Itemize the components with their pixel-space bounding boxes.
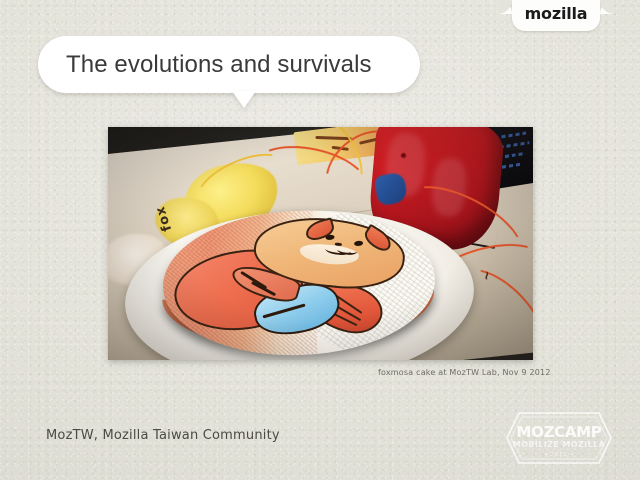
- mozcamp-badge-svg: MOZCAMP MOBILIZE MOZILLA 2012: [503, 409, 615, 467]
- fox-eye-right: [354, 240, 363, 246]
- badge-tagline: MOBILIZE MOZILLA: [513, 440, 606, 449]
- badge-dot-left: [545, 453, 547, 455]
- badge-year: 2012: [550, 452, 568, 458]
- photo-caption: foxmosa cake at MozTW Lab, Nov 9 2012: [378, 368, 551, 377]
- fox-mouth-right: [337, 244, 358, 255]
- footer-attribution: MozTW, Mozilla Taiwan Community: [46, 428, 280, 443]
- plate-mark: ~: [477, 270, 495, 280]
- title-speech-bubble: The evolutions and survivals: [38, 36, 420, 93]
- fox-eye-left: [326, 234, 335, 240]
- foxmosa-cake: [161, 206, 438, 360]
- badge-dot-right: [571, 453, 573, 455]
- presentation-slide: mozilla The evolutions and survivals: [0, 0, 640, 480]
- cake-photograph: fox ~: [108, 127, 533, 360]
- mozilla-brand-tab: mozilla: [512, 0, 600, 31]
- badge-title: MOZCAMP: [517, 423, 602, 441]
- photo-frame: fox ~: [108, 127, 533, 360]
- speech-bubble-tail: [232, 91, 256, 108]
- mozcamp-logo-badge: MOZCAMP MOBILIZE MOZILLA 2012: [503, 409, 615, 467]
- tab-shoulder-left: [498, 0, 512, 14]
- tab-shoulder-right: [600, 0, 614, 14]
- mozilla-wordmark: mozilla: [512, 4, 600, 23]
- slide-title: The evolutions and survivals: [66, 36, 372, 93]
